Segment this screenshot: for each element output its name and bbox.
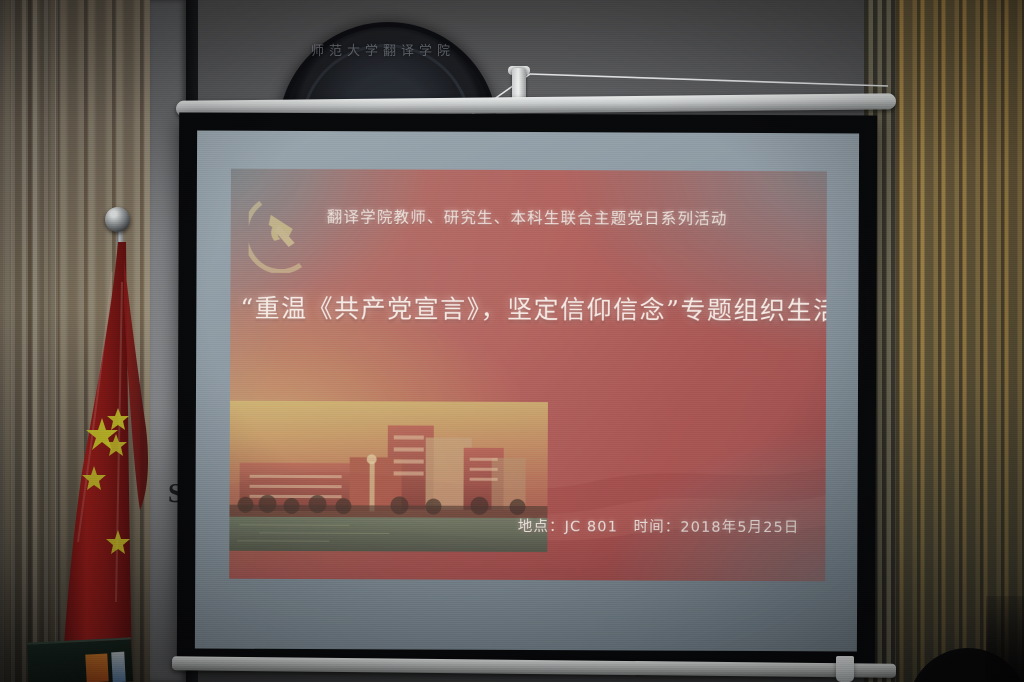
slide-washout-bottom-right [605, 430, 826, 581]
slide-title: “重温《共产党宣言》，坚定信仰信念”专题组织生活会 [240, 289, 820, 328]
board-orange-item [85, 653, 108, 682]
lecture-hall-scene: 师范大学翻译学院 S [0, 0, 1024, 682]
board-blue-item [111, 652, 126, 682]
projected-slide: 翻译学院教师、研究生、本科生联合主题党日系列活动 “重温《共产党宣言》，坚定信仰… [229, 169, 827, 582]
slide-subtitle: 翻译学院教师、研究生、本科生联合主题党日系列活动 [327, 205, 728, 229]
slide-campus-photo [229, 401, 548, 552]
left-sheer-curtain [0, 0, 58, 682]
chinese-flag [60, 242, 156, 672]
flag-pole-ball-finial [105, 207, 130, 232]
slide-footer: 地点：JC 801 时间：2018年5月25日 [518, 515, 800, 537]
right-curtain [896, 0, 1024, 682]
right-dark-corner [986, 596, 1024, 682]
paper-cup [836, 656, 854, 682]
projection-screen-surface: 翻译学院教师、研究生、本科生联合主题党日系列活动 “重温《共产党宣言》，坚定信仰… [195, 131, 859, 652]
party-emblem-icon [249, 195, 321, 273]
